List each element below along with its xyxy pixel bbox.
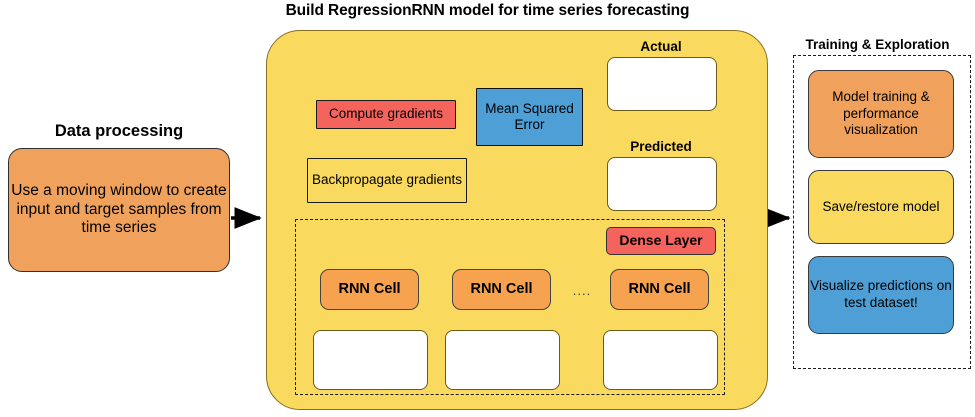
data-processing-box-label: Use a moving window to create input and …	[9, 182, 229, 239]
backpropagate-gradients-label: Backpropagate gradients	[308, 172, 466, 188]
input-plot-card-2	[445, 330, 560, 390]
rnn-cell-2[interactable]: RNN Cell	[452, 269, 551, 310]
rnn-cell-3[interactable]: RNN Cell	[610, 269, 709, 310]
training-card-model-training[interactable]: Model training & performance visualizati…	[808, 70, 954, 158]
training-card-visualize-predictions-label: Visualize predictions on test dataset!	[809, 278, 953, 312]
rnn-cell-2-label: RNN Cell	[453, 281, 550, 299]
actual-plot-label: Actual	[607, 39, 715, 54]
dense-layer-label: Dense Layer	[607, 232, 715, 249]
compute-gradients-label: Compute gradients	[317, 106, 455, 122]
rnn-cell-3-label: RNN Cell	[611, 281, 708, 299]
diagram-canvas: Build RegressionRNN model for time serie…	[0, 0, 975, 417]
dense-layer-box[interactable]: Dense Layer	[606, 227, 716, 255]
actual-plot-card	[607, 57, 717, 111]
backpropagate-gradients-box[interactable]: Backpropagate gradients	[307, 158, 467, 203]
training-card-visualize-predictions[interactable]: Visualize predictions on test dataset!	[808, 256, 954, 334]
input-plot-card-1	[313, 330, 428, 390]
rnn-cell-1[interactable]: RNN Cell	[320, 269, 419, 310]
compute-gradients-box[interactable]: Compute gradients	[316, 100, 456, 129]
section-title-data-processing: Data processing	[8, 122, 230, 140]
data-processing-box[interactable]: Use a moving window to create input and …	[8, 148, 230, 272]
training-card-save-restore-label: Save/restore model	[809, 199, 953, 216]
predicted-plot-label: Predicted	[607, 139, 715, 154]
predicted-plot-card	[607, 157, 717, 211]
section-title-training-exploration: Training & Exploration	[780, 38, 975, 53]
input-plot-card-3	[603, 330, 718, 390]
mean-squared-error-label: Mean Squared Error	[477, 101, 582, 134]
page-title: Build RegressionRNN model for time serie…	[0, 2, 975, 19]
rnn-sequence-ellipsis: ....	[562, 283, 602, 298]
rnn-cell-1-label: RNN Cell	[321, 281, 418, 299]
training-card-model-training-label: Model training & performance visualizati…	[809, 89, 953, 140]
training-card-save-restore[interactable]: Save/restore model	[808, 170, 954, 244]
mean-squared-error-box[interactable]: Mean Squared Error	[476, 88, 583, 146]
